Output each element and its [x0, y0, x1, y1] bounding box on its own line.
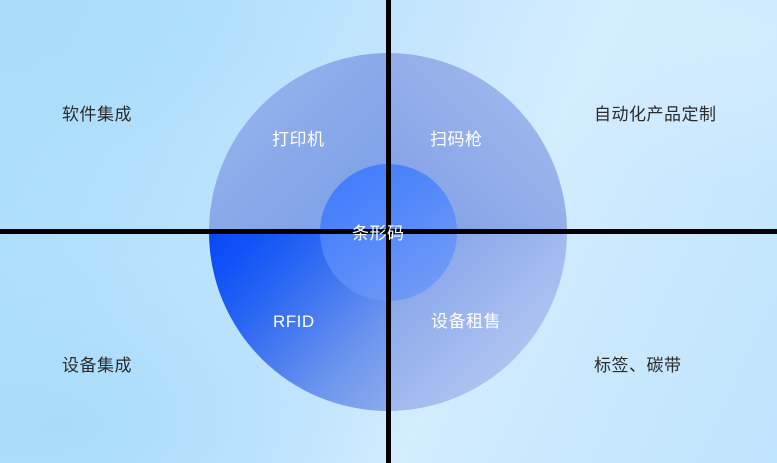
corner-label-automation-customization: 自动化产品定制	[594, 106, 717, 123]
ring-label-rfid: RFID	[273, 313, 315, 330]
corner-label-labels-ribbons: 标签、碳带	[594, 357, 682, 374]
diagram-canvas: 打印机 扫码枪 RFID 设备租售 条形码 软件集成 自动化产品定制 设备集成 …	[0, 0, 777, 463]
ring-label-rental: 设备租售	[431, 313, 501, 330]
ring-label-printer: 打印机	[272, 131, 325, 148]
corner-label-device-integration: 设备集成	[62, 357, 132, 374]
ring-label-scanner: 扫码枪	[430, 131, 483, 148]
core-label-barcode: 条形码	[352, 225, 405, 242]
corner-label-software-integration: 软件集成	[62, 106, 132, 123]
